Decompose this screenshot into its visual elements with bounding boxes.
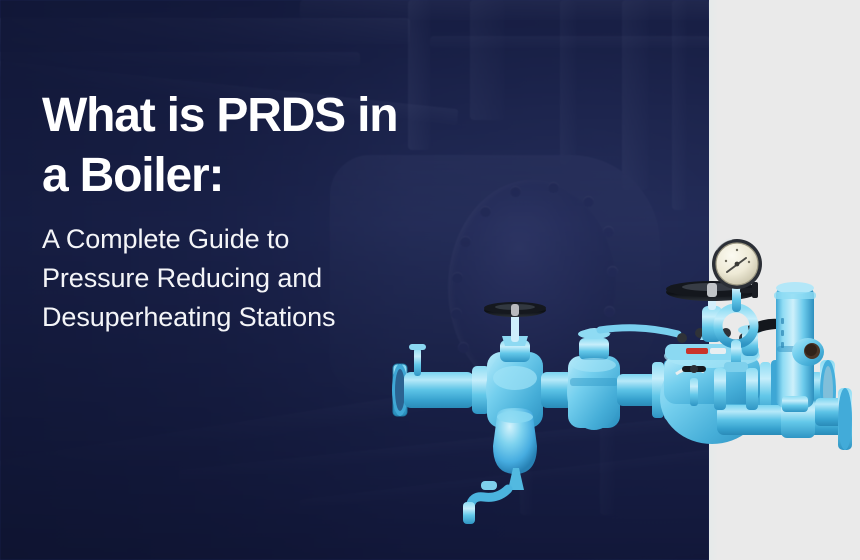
page-subtitle: A Complete Guide to Pressure Reducing an… — [42, 220, 522, 337]
headline-block: What is PRDS in a Boiler: A Complete Gui… — [42, 86, 522, 337]
right-side-panel — [708, 0, 860, 560]
headline-line-2: a Boiler: — [42, 146, 522, 206]
headline-line-1: What is PRDS in — [42, 86, 522, 146]
subhead-line-2: Pressure Reducing and — [42, 259, 522, 298]
subhead-line-3: Desuperheating Stations — [42, 298, 522, 337]
prds-banner: What is PRDS in a Boiler: A Complete Gui… — [0, 0, 860, 560]
page-title: What is PRDS in a Boiler: — [42, 86, 522, 206]
subhead-line-1: A Complete Guide to — [42, 220, 522, 259]
